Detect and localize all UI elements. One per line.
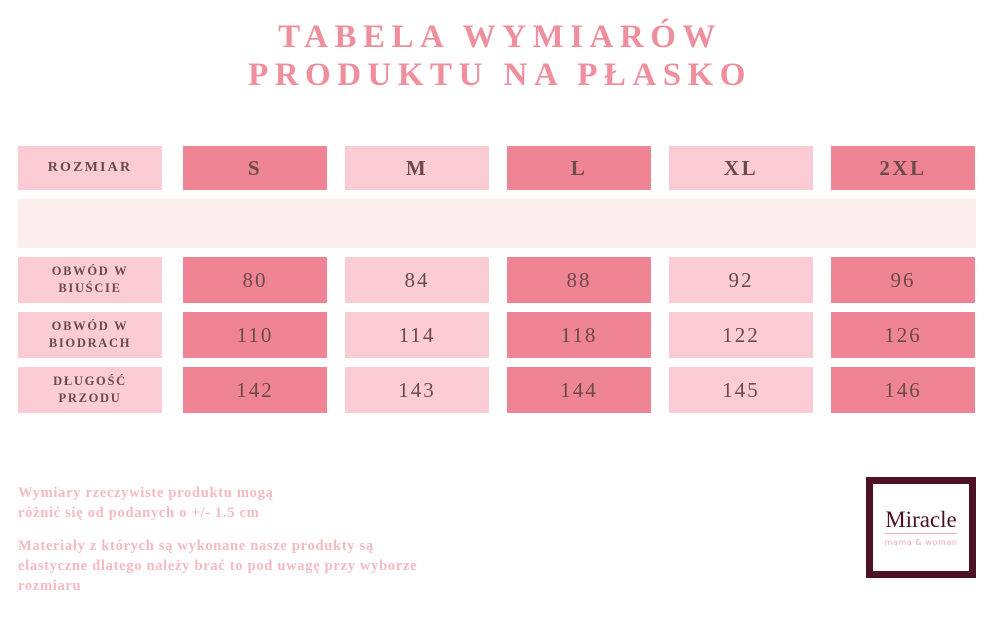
brand-logo-tagline: mama & woman — [884, 538, 957, 547]
brand-logo-name: Miracle — [885, 508, 957, 534]
brand-logo: Miracle mama & woman — [866, 477, 976, 578]
note-elasticity-line-1: Materiały z których są wykonane nasze pr… — [18, 538, 374, 554]
page-title-line-1: TABELA WYMIARÓW — [0, 18, 1000, 56]
row-bust-value-l: 88 — [507, 257, 651, 303]
disclaimer-notes: Wymiary rzeczywiste produktu mogą różnić… — [18, 483, 538, 596]
row-bust-value-m: 84 — [345, 257, 489, 303]
page-title: TABELA WYMIARÓW PRODUKTU NA PŁASKO — [0, 18, 1000, 94]
table-row: OBWÓD W BIODRACH 110 114 118 122 126 — [18, 312, 976, 358]
row-label-hips-line-1: OBWÓD W — [52, 319, 129, 333]
note-elasticity-line-2: elastyczne dlatego należy brać to pod uw… — [18, 558, 417, 574]
size-chart-table: ROZMIAR S M L XL 2XL OBWÓD W BIUŚCIE 80 … — [18, 146, 976, 422]
row-front-length-value-2xl: 146 — [831, 367, 975, 413]
header-cell-rozmiar: ROZMIAR — [18, 146, 162, 190]
row-hips-value-l: 118 — [507, 312, 651, 358]
page-title-line-2: PRODUKTU NA PŁASKO — [0, 56, 1000, 94]
header-cell-size-s: S — [183, 146, 327, 190]
header-cell-size-m: M — [345, 146, 489, 190]
note-tolerance: Wymiary rzeczywiste produktu mogą różnić… — [18, 483, 538, 523]
note-tolerance-line-1: Wymiary rzeczywiste produktu mogą — [18, 485, 273, 501]
row-hips-value-m: 114 — [345, 312, 489, 358]
row-label-hips-line-2: BIODRACH — [49, 336, 131, 350]
row-front-length-value-l: 144 — [507, 367, 651, 413]
table-row: DŁUGOŚĆ PRZODU 142 143 144 145 146 — [18, 367, 976, 413]
row-label-front-length-line-1: DŁUGOŚĆ — [53, 374, 127, 388]
row-front-length-value-xl: 145 — [669, 367, 813, 413]
row-label-hips: OBWÓD W BIODRACH — [18, 312, 162, 358]
header-cell-size-2xl: 2XL — [831, 146, 975, 190]
table-header-row: ROZMIAR S M L XL 2XL — [18, 146, 976, 190]
header-cell-size-l: L — [507, 146, 651, 190]
row-label-bust: OBWÓD W BIUŚCIE — [18, 257, 162, 303]
row-front-length-value-s: 142 — [183, 367, 327, 413]
row-hips-value-xl: 122 — [669, 312, 813, 358]
row-bust-value-2xl: 96 — [831, 257, 975, 303]
table-row: OBWÓD W BIUŚCIE 80 84 88 92 96 — [18, 257, 976, 303]
note-elasticity-line-3: rozmiaru — [18, 578, 81, 594]
row-hips-value-2xl: 126 — [831, 312, 975, 358]
note-elasticity: Materiały z których są wykonane nasze pr… — [18, 536, 538, 596]
row-hips-value-s: 110 — [183, 312, 327, 358]
table-spacer-band — [18, 199, 976, 248]
row-label-front-length: DŁUGOŚĆ PRZODU — [18, 367, 162, 413]
row-bust-value-s: 80 — [183, 257, 327, 303]
row-label-front-length-line-2: PRZODU — [59, 391, 122, 405]
note-tolerance-line-2: różnić się od podanych o +/- 1.5 cm — [18, 505, 259, 521]
row-front-length-value-m: 143 — [345, 367, 489, 413]
header-cell-size-xl: XL — [669, 146, 813, 190]
row-bust-value-xl: 92 — [669, 257, 813, 303]
